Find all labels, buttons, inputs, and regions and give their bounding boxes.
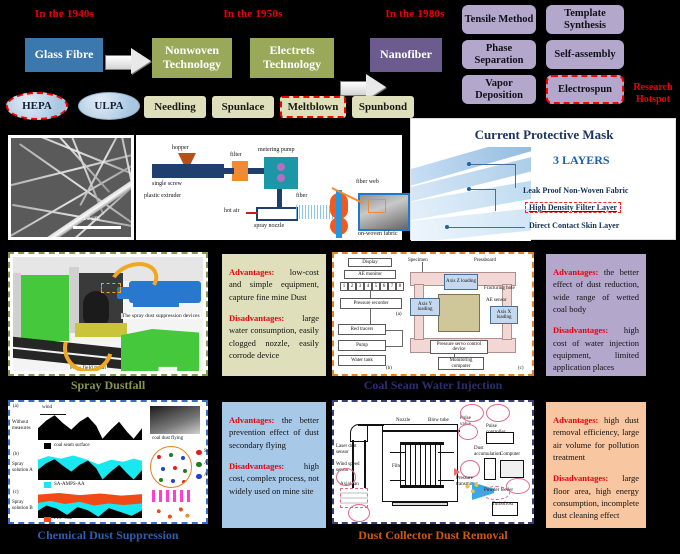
channel-box-3: 3	[356, 282, 364, 291]
water-injection-diagram: Display AE monitor 1 2 3 4 5 6 7 8 Press…	[334, 254, 532, 374]
pulse-photo-callout-2	[486, 404, 510, 422]
method-box-tensile-method[interactable]: Tensile Method	[462, 5, 536, 34]
specimen-block	[438, 294, 480, 332]
pump-nozzle-downpipe	[277, 189, 282, 209]
method-box-phase-separation[interactable]: Phase Separation	[462, 40, 536, 69]
collector-shaft	[336, 190, 342, 238]
coal-seam-water-injection-advantages-panel: Advantages: the better effect of dust re…	[546, 254, 646, 376]
wi-connector-5	[402, 330, 403, 347]
hopper-label: hopper	[172, 145, 189, 151]
wi-connector-7	[454, 354, 455, 358]
instrument-rack	[484, 458, 496, 480]
plastic-extruder-label: plastic extruder	[144, 193, 181, 199]
flow-arrow-b	[390, 480, 406, 481]
method-box-vapor-deposition[interactable]: Vapor Deposition	[462, 75, 536, 104]
dc-laser-dust-sensor-label: Laser dust sensor	[336, 444, 366, 455]
spray-dustfall-advantages-panel: Advantages: low-cost and simple equipmen…	[222, 254, 326, 376]
inset-zoom-box	[368, 199, 386, 213]
technique-caption-dust-collector: Dust Collector Dust Removal	[332, 528, 534, 543]
monitoring-computer-box: Monitoring computer	[438, 357, 484, 370]
cs-sub-a: (a)	[13, 404, 19, 409]
chemical-dust-suppression-advantages-panel: Advantages: the better prevention effect…	[222, 402, 326, 528]
mol-legend-aa-dot	[196, 474, 202, 479]
pressure-servo-box: Pressure servo control device	[430, 340, 488, 354]
chemical-suppression-diagram: (a) wind Without measures coal seam surf…	[10, 402, 206, 522]
dis-label-1: Disadvantages:	[229, 313, 284, 323]
cs-without-measures-label: Without measures	[12, 420, 38, 431]
single-screw-extruder-shape	[152, 164, 224, 178]
cs-spray-b-label: Spray solution B	[12, 500, 38, 511]
cs-wind-label: wind	[42, 405, 52, 410]
method-box-template-synthesis[interactable]: Template Synthesis	[546, 5, 624, 34]
fiber-web-label: fiber web	[356, 179, 379, 185]
hot-air-arrow	[246, 212, 258, 214]
mask-point-3	[445, 225, 449, 229]
technique-caption-chemical-dust-suppression: Chemical Dust Suppression	[4, 528, 212, 543]
wi-connector-2	[370, 309, 371, 324]
feeder-photo-callout	[506, 478, 530, 494]
fiber-label: fiber	[296, 193, 307, 199]
dis-label-3: Disadvantages:	[229, 461, 284, 471]
pressboard-label: Pressboard	[474, 258, 496, 263]
mask-layer-label-3: Direct Contact Skin Layer	[529, 221, 619, 230]
adv-label-2: Advantages:	[553, 267, 598, 277]
sem-scale-bar	[73, 226, 121, 229]
cs-coal-dust-flying-label: coal dust flying	[152, 436, 183, 441]
cs-spray-a-label: Spray solution A	[12, 462, 38, 473]
particle-cluster-inset	[150, 504, 194, 522]
dc-blow-tube-label: Blow tube	[428, 418, 449, 423]
fiber-stream	[296, 205, 334, 219]
technique-caption-spray-dustfall: Spray Dustfall	[8, 378, 208, 393]
coal-seam-water-injection-frame: Display AE monitor 1 2 3 4 5 6 7 8 Press…	[332, 252, 534, 376]
channel-box-6: 6	[380, 282, 388, 291]
molecule-circle-inset	[150, 446, 192, 488]
flow-arrow-d	[438, 480, 454, 481]
ae-monitor-box: AE monitor	[344, 270, 396, 279]
hopper-base	[392, 502, 448, 506]
mask-layers-heading: 3 LAYERS	[553, 153, 610, 168]
dis-label-4: Disadvantages:	[553, 473, 608, 483]
subfigure-label-c: (c)	[518, 366, 524, 371]
channel-box-2: 2	[348, 282, 356, 291]
blow-tube	[382, 430, 460, 432]
technique-caption-coal-seam-water-injection: Coal Seam Water Injection	[332, 378, 534, 393]
specimen-label: Specimen	[408, 258, 428, 263]
legend-b-swatch	[44, 482, 51, 488]
dc-nozzle-label: Nozzle	[396, 418, 410, 423]
metering-pump-gear-1	[277, 163, 285, 171]
pressure-recorder-box: Pressure recorder	[340, 298, 402, 309]
stage-box-glass-fibre[interactable]: Glass Fibre	[25, 38, 103, 72]
process-box-spunbond[interactable]: Spunbond	[352, 96, 414, 118]
mask-layer-label-1: Leak Proof Non-Woven Fabric	[523, 186, 628, 195]
process-box-needling[interactable]: Needling	[144, 96, 206, 118]
dust-collector-diagram: Filter Axial fan Laser dust sensor Wind …	[334, 402, 532, 522]
wi-connector-4	[386, 346, 402, 347]
mask-point-2	[467, 187, 471, 191]
red-marker	[454, 468, 460, 476]
sem-fiber-image: 10 μm	[11, 138, 131, 237]
channel-box-7: 7	[388, 282, 396, 291]
extruder-filter-connector	[224, 168, 234, 174]
mask-leader-2	[467, 189, 495, 190]
era-label-1980s: In the 1980s	[360, 8, 470, 20]
cs-legend-a: SA-AMPS-AA	[54, 482, 85, 487]
wind-arrow	[40, 414, 66, 415]
chemical-dust-suppression-frame: (a) wind Without measures coal seam surf…	[8, 400, 208, 524]
pulse-valve-callout	[458, 424, 478, 440]
dc-dust-accumulation-label: Dust accumulation	[474, 446, 500, 457]
era-label-1940s: In the 1940s	[12, 8, 117, 20]
spray-nozzle-shape	[256, 207, 298, 221]
metering-pump-label: metering pump	[258, 147, 295, 153]
channel-box-4: 4	[364, 282, 372, 291]
meltblown-schematic-panel: hopper single screw plastic extruder fil…	[136, 135, 402, 240]
cs-mol-aa: AA	[204, 473, 211, 478]
pulse-photo-callout-1	[460, 404, 484, 422]
filter-pump-connector	[248, 168, 264, 174]
stage-box-nanofiber[interactable]: Nanofiber	[370, 38, 442, 72]
wi-connector-6	[422, 262, 423, 272]
mol-legend-sa-dot	[196, 450, 202, 455]
process-box-meltblown[interactable]: Meltblown	[280, 96, 346, 118]
mask-layer-label-2-highlighted: High Density Filter Layer	[525, 202, 621, 213]
axis-y-loading-box: Axis Y loading	[410, 298, 440, 316]
mask-leader-2v	[495, 189, 496, 211]
adv-label-3: Advantages:	[229, 415, 274, 425]
stage-box-nonwoven-technology[interactable]: Nonwoven Technology	[152, 38, 232, 78]
mask-point-1	[467, 162, 471, 166]
mask-leader-1v	[515, 164, 516, 188]
single-screw-label: single screw	[152, 181, 182, 187]
dust-collector-advantages-panel: Advantages: high dust removal efficiency…	[546, 402, 646, 528]
powder-cloud	[462, 480, 480, 496]
cs-mol-sa: SA	[204, 449, 210, 454]
mask-panel-title: Current Protective Mask	[411, 127, 677, 143]
subfigure-label-b: (b)	[386, 366, 392, 371]
display-box: Display	[348, 258, 392, 267]
legend-a-swatch	[44, 443, 51, 449]
flow-arrow-a	[390, 452, 406, 453]
polymer-chain-inset	[152, 490, 192, 502]
flow-arrow-1	[105, 48, 151, 74]
cs-mol-amps: AMPS	[204, 461, 218, 466]
wi-connector-3	[386, 330, 402, 331]
sem-panel: 10 μm	[8, 135, 134, 240]
research-hotspot-text: Research Hotspot	[633, 82, 672, 105]
dc-turbofrost-label: Turbofrost	[492, 502, 513, 507]
computer-box	[500, 460, 524, 478]
spray-dustfall-frame: The spray dust suppression devices Flow …	[8, 252, 208, 376]
profile-a-surface	[38, 414, 142, 440]
dust-collector-frame: Filter Axial fan Laser dust sensor Wind …	[332, 400, 534, 524]
channel-box-8: 8	[396, 282, 404, 291]
stage-box-electrets-technology[interactable]: Electrets Technology	[250, 38, 334, 78]
ae-sensor-label: AE sensor	[486, 298, 507, 303]
filter-shape	[232, 161, 248, 181]
axis-z-loading-box: Axis Z loading	[444, 274, 478, 290]
spray-dustfall-scene: The spray dust suppression devices Flow …	[13, 257, 203, 371]
mask-leader-3	[447, 227, 525, 228]
process-box-spunlace[interactable]: Spunlace	[212, 96, 274, 118]
dis-label-2: Disadvantages:	[553, 325, 608, 335]
pump-box: Pump	[338, 340, 386, 351]
coal-dust-flying-photo	[150, 406, 200, 434]
filter-cartridge-bank	[400, 442, 444, 488]
research-hotspot-label: Research Hotspot	[626, 82, 680, 105]
wind-sensor-callout	[336, 468, 356, 486]
mask-leader-1	[467, 164, 515, 165]
water-tank-box: Water tank	[338, 355, 386, 366]
adv-label-4: Advantages:	[553, 415, 598, 425]
figure-root: In the 1940s In the 1950s In the 1980s G…	[0, 0, 680, 554]
flow-arrow-c	[438, 452, 454, 453]
cs-sub-b: (b)	[13, 452, 19, 457]
grade-ellipse-ulpa[interactable]: ULPA	[78, 92, 140, 120]
mol-legend-amps-dot	[196, 462, 202, 467]
filter-label: filter	[230, 152, 242, 158]
legend-c-swatch	[44, 517, 51, 522]
method-box-electrospun[interactable]: Electrospun	[546, 75, 624, 104]
spray-device-label: The spray dust suppression devices	[121, 313, 201, 319]
subfigure-label-a: (a)	[396, 312, 402, 317]
cs-legend-surface: coal seam surface	[54, 443, 90, 448]
metering-pump-gear-2	[277, 174, 285, 182]
adv-label-1: Advantages:	[229, 267, 274, 277]
grade-ellipse-hepa[interactable]: HEPA	[6, 92, 68, 120]
wi-connector-1	[370, 291, 371, 298]
channel-box-1: 1	[340, 282, 348, 291]
protective-mask-panel: Current Protective Mask 3 LAYERS Leak Pr…	[410, 118, 676, 240]
pulse-controller-box	[486, 432, 514, 444]
cs-sub-c: (c)	[13, 490, 19, 495]
metering-pump-shape	[264, 157, 298, 189]
axis-x-loading-box: Axis X loading	[490, 306, 518, 324]
spray-nozzle-label: spray nozzle	[254, 223, 284, 229]
hot-air-label: hot air	[224, 208, 240, 214]
nonwoven-fabric-label: on-woven fabric	[358, 231, 397, 237]
sem-scale-label: 10 μm	[83, 216, 100, 222]
cs-legend-b: Fe3+Ca2+	[54, 516, 75, 521]
fracturing-hole-label: Fracturing hole	[484, 286, 515, 291]
red-tracers-box: Red tracers	[338, 324, 386, 335]
hopper-shape	[178, 153, 196, 164]
method-box-self-assembly[interactable]: Self-assembly	[546, 40, 624, 69]
era-label-1950s: In the 1950s	[198, 8, 308, 20]
channel-box-5: 5	[372, 282, 380, 291]
fan-callout	[348, 504, 370, 522]
dc-computer-label: Computer	[500, 452, 520, 457]
